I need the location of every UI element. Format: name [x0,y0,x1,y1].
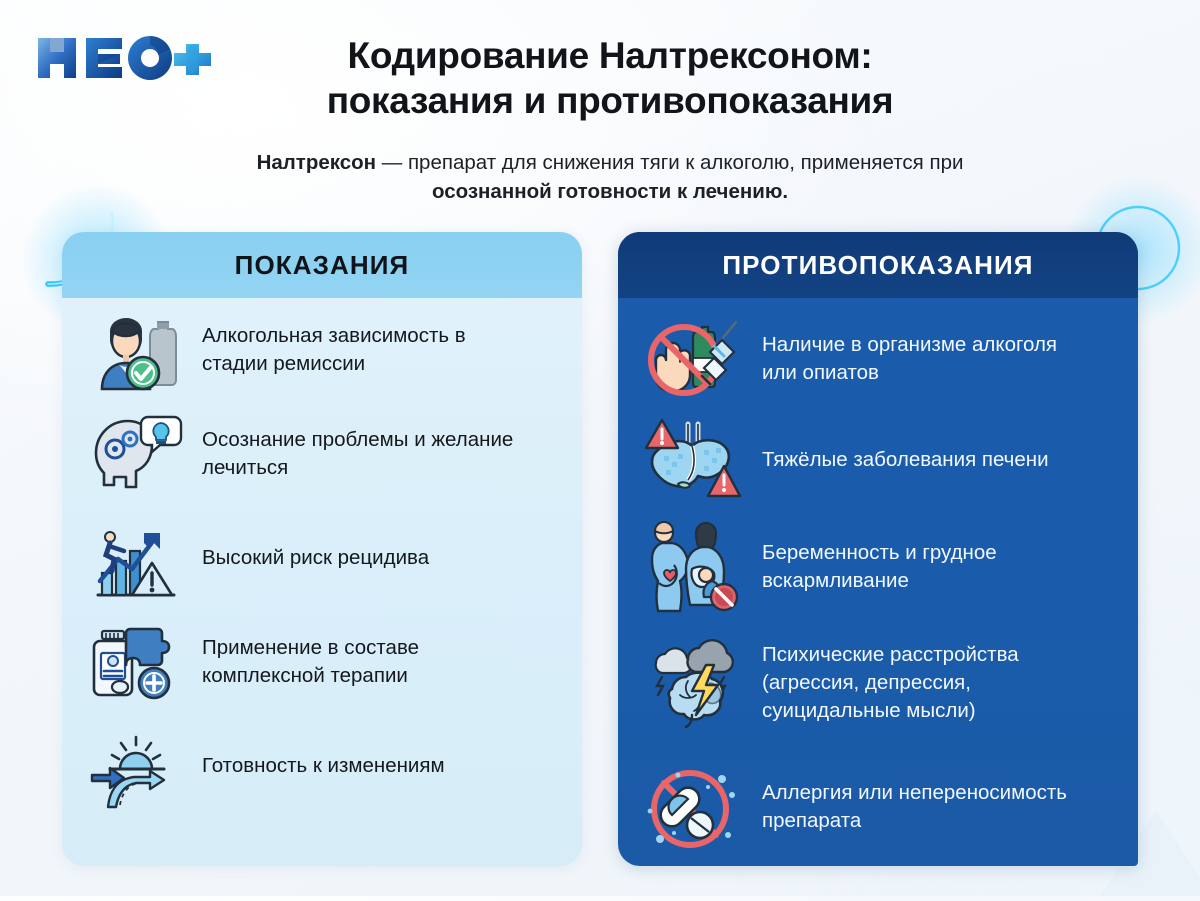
person-bottle-check-icon [84,304,188,396]
medicine-puzzle-plus-icon [84,616,188,708]
indications-list: Алкогольная зависимость в стадии ремисси… [62,298,582,818]
indications-title: ПОКАЗАНИЯ [235,250,410,281]
list-item-label: Аллергия или непереносимость препарата [762,779,1084,835]
list-item-label: Готовность к изменениям [202,752,532,780]
head-gears-idea-icon [84,408,188,500]
page-title-line2: показания и противопоказания [215,78,1005,123]
liver-warning-icon [642,414,746,506]
page-header: Кодирование Налтрексоном: показания и пр… [0,0,1200,212]
list-item[interactable]: Алкогольная зависимость в стадии ремисси… [62,298,582,402]
indications-card-header: ПОКАЗАНИЯ [62,232,582,298]
list-item-label: Алкогольная зависимость в стадии ремисси… [202,322,532,378]
pregnancy-breastfeeding-icon [642,521,746,613]
subtitle-drug-name: Налтрексон [257,151,377,174]
indications-card: ПОКАЗАНИЯ [62,232,582,866]
list-item[interactable]: Беременность и грудное вскармливание [618,512,1138,622]
cards-container: ПОКАЗАНИЯ [0,232,1200,872]
list-item[interactable]: Готовность к изменениям [62,714,582,818]
page-subtitle: Налтрексон — препарат для снижения тяги … [225,148,995,206]
list-item[interactable]: Тяжёлые заболевания печени [618,408,1138,512]
no-alcohol-syringe-icon [642,313,746,405]
subtitle-middle: — препарат для снижения тяги к алкоголю,… [376,151,963,174]
list-item-label: Тяжёлые заболевания печени [762,446,1084,474]
list-item-label: Наличие в организме алкоголя или опиатов [762,331,1084,387]
list-item-label: Психические расстройства (агрессия, депр… [762,641,1084,725]
contraindications-card-header: ПРОТИВОПОКАЗАНИЯ [618,232,1138,298]
page-title-line1: Кодирование Налтрексоном: [215,33,1005,78]
brain-storm-icon [642,637,746,729]
page-title: Кодирование Налтрексоном: показания и пр… [215,33,1005,123]
contraindications-list: Наличие в организме алкоголя или опиатов [618,298,1138,866]
contraindications-card: ПРОТИВОПОКАЗАНИЯ [618,232,1138,866]
list-item[interactable]: Психические расстройства (агрессия, депр… [618,622,1138,744]
subtitle-emphasis: осознанной готовности к лечению. [432,180,788,203]
list-item[interactable]: Наличие в организме алкоголя или опиатов [618,310,1138,408]
list-item-label: Осознание проблемы и желание лечиться [202,426,532,482]
list-item-label: Беременность и грудное вскармливание [762,539,1084,595]
risk-chart-warning-icon [84,512,188,604]
list-item-label: Высокий риск рецидива [202,544,532,572]
list-item[interactable]: Аллергия или непереносимость препарата [618,744,1138,866]
list-item[interactable]: Применение в составе комплексной терапии [62,610,582,714]
contraindications-title: ПРОТИВОПОКАЗАНИЯ [722,250,1033,281]
list-item[interactable]: Осознание проблемы и желание лечиться [62,402,582,506]
list-item[interactable]: Высокий риск рецидива [62,506,582,610]
brand-logo[interactable] [34,32,214,84]
neo-plus-logo-icon [34,32,214,84]
no-pills-allergy-icon [642,761,746,853]
list-item-label: Применение в составе комплексной терапии [202,634,532,690]
sunrise-road-arrow-icon [84,720,188,812]
